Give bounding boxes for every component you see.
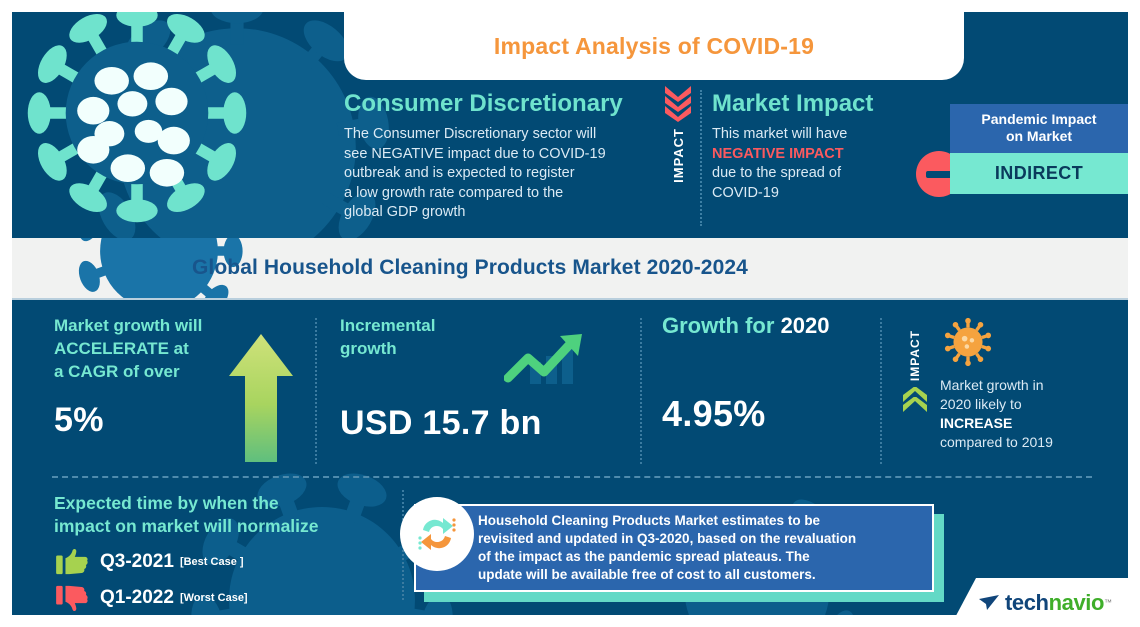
note-line-3: of the impact as the pandemic spread pla…	[478, 548, 856, 566]
technavio-logo-strip[interactable]: technavio™	[950, 578, 1140, 627]
pandemic-header-line-2: on Market	[956, 128, 1122, 145]
note-text: Household Cleaning Products Market estim…	[416, 506, 870, 590]
middle-band: Global Household Cleaning Products Marke…	[12, 238, 1128, 300]
stats-row: Market growth will ACCELERATE at a CAGR …	[12, 300, 1128, 472]
consumer-line-4: a low growth rate compared to the	[344, 184, 650, 204]
page-title: Impact Analysis of COVID-19	[494, 33, 814, 60]
consumer-line-5: global GDP growth	[344, 203, 650, 223]
pandemic-impact-box: Pandemic Impact on Market INDIRECT	[950, 104, 1128, 194]
growth2020-label-white: 2020	[781, 313, 830, 338]
note-line-2: revisited and updated in Q3-2020, based …	[478, 530, 856, 548]
market-line-3: COVID-19	[712, 184, 912, 204]
thumbs-up-icon	[54, 548, 90, 576]
impact-2020-vertical-label: IMPACT	[908, 330, 922, 381]
impact-2020-line-1: Market growth in	[940, 376, 1053, 395]
market-impact-heading: Market Impact	[712, 90, 912, 118]
worst-case-row: Q1-2022 [Worst Case]	[54, 584, 394, 612]
best-case-quarter: Q3-2021	[100, 551, 174, 573]
stat-divider-2	[640, 318, 642, 464]
incremental-value: USD 15.7 bn	[340, 404, 610, 443]
consumer-discretionary-body: The Consumer Discretionary sector will s…	[344, 125, 650, 223]
impact-2020-indicator: IMPACT	[900, 330, 930, 413]
impact-2020-line-4: compared to 2019	[940, 433, 1053, 452]
market-report-title: Global Household Cleaning Products Marke…	[192, 256, 748, 280]
consumer-line-2: see NEGATIVE impact due to COVID-19	[344, 145, 650, 165]
impact-indicator-top: IMPACT	[658, 92, 698, 232]
top-panel: Impact Analysis of COVID-19 Consumer Dis…	[12, 12, 1128, 238]
pandemic-impact-value: INDIRECT	[950, 153, 1128, 194]
consumer-line-3: outbreak and is expected to register	[344, 164, 650, 184]
normalize-block: Expected time by when the impact on mark…	[54, 492, 394, 615]
trend-chart-icon	[504, 328, 594, 390]
virus-orange-icon	[940, 314, 996, 370]
up-arrow-icon	[227, 332, 295, 464]
virus-teal-icon	[22, 12, 252, 228]
refresh-icon-container	[400, 497, 474, 571]
chevron-up-icon	[901, 387, 929, 413]
market-line-1: This market will have	[712, 125, 912, 145]
vertical-divider	[700, 90, 702, 226]
infographic-canvas: Impact Analysis of COVID-19 Consumer Dis…	[0, 0, 1140, 627]
note-box: Household Cleaning Products Market estim…	[414, 504, 934, 592]
technavio-logo[interactable]: technavio™	[978, 590, 1112, 616]
growth2020-label-teal: Growth for	[662, 313, 774, 338]
logo-trademark: ™	[1104, 598, 1112, 607]
consumer-discretionary-block: Consumer Discretionary The Consumer Disc…	[344, 90, 650, 223]
logo-navio-text: navio	[1049, 590, 1104, 616]
chevron-down-icon	[663, 92, 693, 122]
growth2020-label: Growth for 2020	[662, 314, 902, 337]
stat-divider-3	[880, 318, 882, 464]
normalize-heading: Expected time by when the impact on mark…	[54, 492, 394, 538]
growth2020-value: 4.95%	[662, 393, 902, 435]
note-line-1: Household Cleaning Products Market estim…	[478, 512, 856, 530]
technavio-mark-icon	[978, 593, 1000, 613]
pandemic-impact-header: Pandemic Impact on Market	[950, 104, 1128, 153]
title-pill: Impact Analysis of COVID-19	[344, 12, 964, 80]
thumbs-down-icon	[54, 584, 90, 612]
worst-case-label: [Worst Case]	[180, 592, 248, 604]
stat-growth-2020: Growth for 2020 4.95%	[662, 314, 902, 466]
consumer-discretionary-heading: Consumer Discretionary	[344, 90, 650, 118]
best-case-row: Q3-2021 [Best Case ]	[54, 548, 394, 576]
consumer-line-1: The Consumer Discretionary sector will	[344, 125, 650, 145]
refresh-icon	[413, 510, 461, 558]
market-line-2: due to the spread of	[712, 164, 912, 184]
impact-2020-text: Market growth in 2020 likely to INCREASE…	[940, 376, 1053, 452]
horizontal-divider	[52, 476, 1092, 478]
best-case-label: [Best Case ]	[180, 556, 244, 568]
impact-2020-line-3: INCREASE	[940, 414, 1053, 433]
impact-vertical-label: IMPACT	[671, 128, 686, 183]
impact-2020-line-2: 2020 likely to	[940, 395, 1053, 414]
pandemic-header-line-1: Pandemic Impact	[956, 111, 1122, 128]
market-impact-block: Market Impact This market will have NEGA…	[712, 90, 912, 203]
note-line-4: update will be available free of cost to…	[478, 566, 856, 584]
normalize-heading-line-2: impact on market will normalize	[54, 515, 394, 538]
market-impact-body: This market will have NEGATIVE IMPACT du…	[712, 125, 912, 203]
stat-impact-2020: IMPACT	[900, 314, 1128, 466]
market-negative-impact: NEGATIVE IMPACT	[712, 145, 912, 165]
stat-divider-1	[315, 318, 317, 464]
logo-tech-text: tech	[1005, 590, 1049, 616]
worst-case-quarter: Q1-2022	[100, 587, 174, 609]
normalize-heading-line-1: Expected time by when the	[54, 492, 394, 515]
